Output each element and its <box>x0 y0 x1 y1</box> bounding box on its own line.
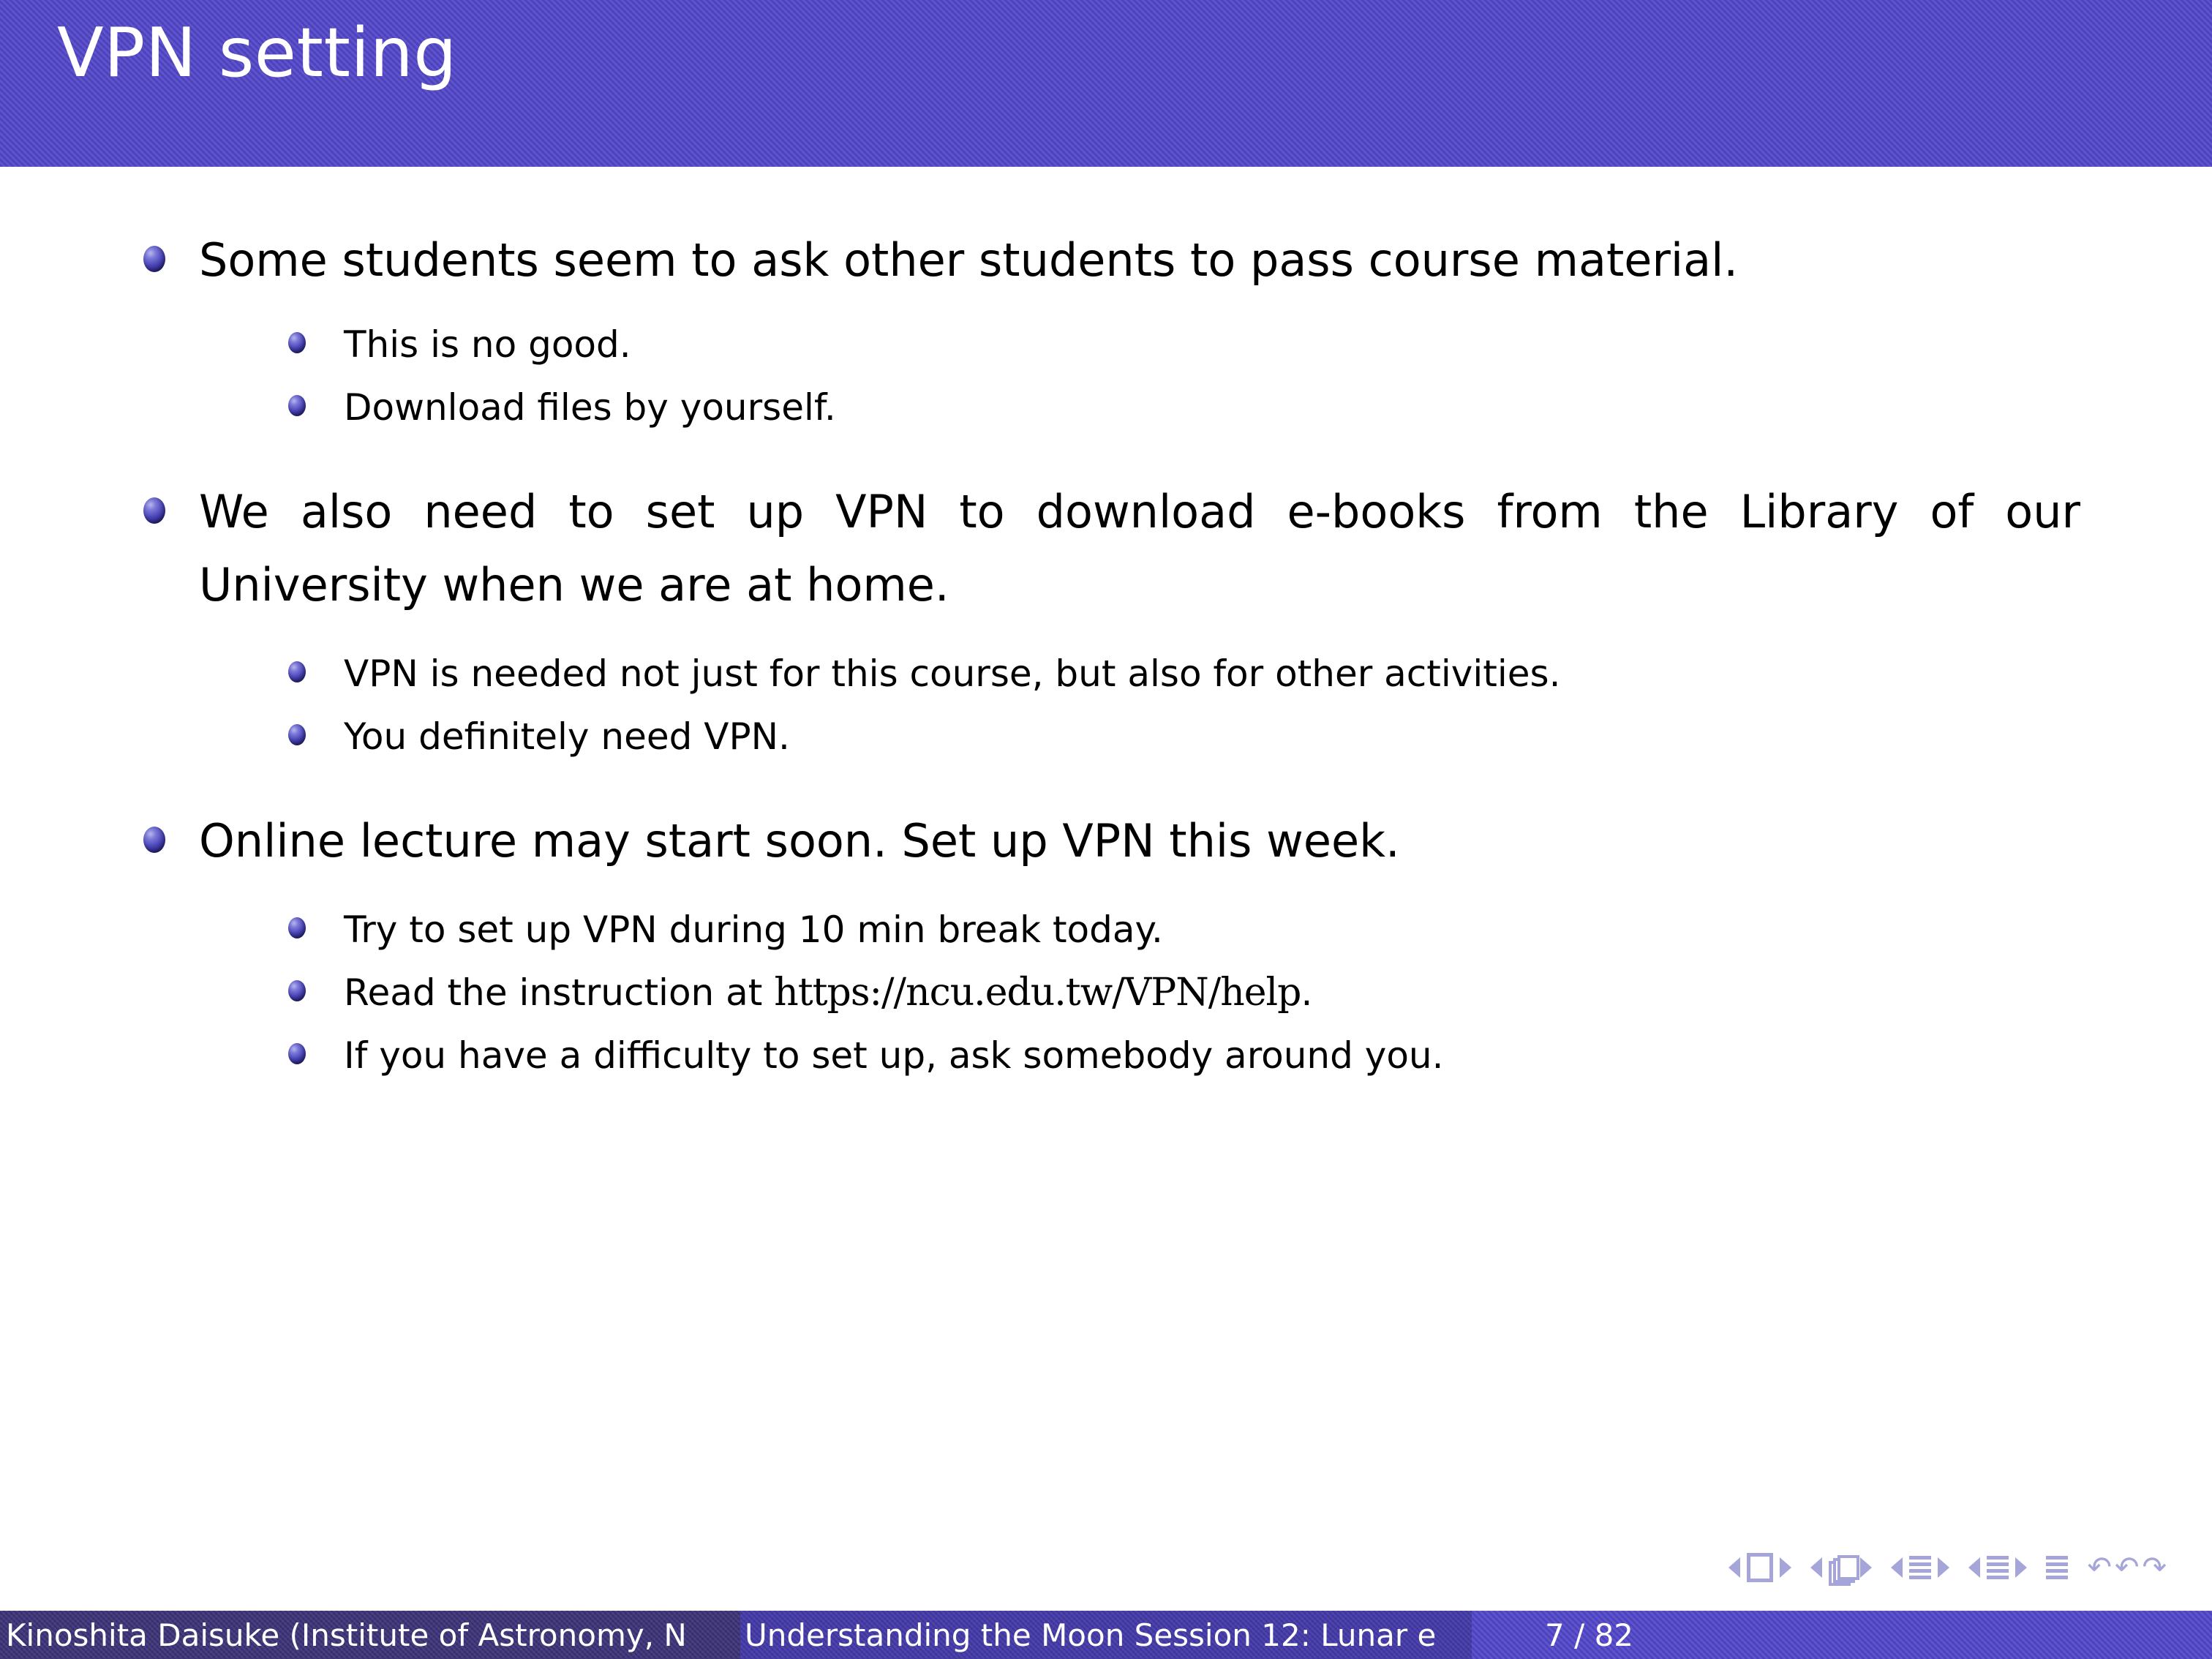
presentation-current-icon[interactable] <box>2046 1556 2068 1579</box>
bullet-ball-icon <box>288 980 306 1001</box>
slide-next-icon[interactable] <box>1780 1557 1791 1578</box>
nav-group-frame[interactable] <box>1810 1555 1872 1580</box>
slide-footer: Kinoshita Daisuke (Institute of Astronom… <box>0 1611 2212 1659</box>
instruction-text-after: . <box>1301 971 1312 1014</box>
list-item: Some students seem to ask other students… <box>0 224 2212 297</box>
slide-current-icon[interactable] <box>1747 1553 1773 1582</box>
bullet-ball-icon <box>288 661 306 682</box>
list-item: We also need to set up VPN to download e… <box>0 475 2212 622</box>
frame-prev-icon[interactable] <box>1810 1557 1822 1578</box>
list-item-label: If you have a difficulty to set up, ask … <box>344 1034 1444 1077</box>
list-item-label: Download files by yourself. <box>344 386 836 429</box>
list-item-label: We also need to set up VPN to download e… <box>199 475 2080 622</box>
list-item: Try to set up VPN during 10 min break to… <box>0 898 2212 961</box>
bullet-ball-icon <box>288 395 306 416</box>
nav-group-subsection[interactable] <box>1891 1556 1949 1579</box>
bullet-ball-icon <box>143 827 165 853</box>
list-item: VPN is needed not just for this course, … <box>0 642 2212 705</box>
list-item-label: Try to set up VPN during 10 min break to… <box>344 908 1163 951</box>
list-item-label: Read the instruction at https://ncu.edu.… <box>344 971 1312 1014</box>
bullet-ball-icon <box>288 917 306 938</box>
bullet-ball-icon <box>143 246 165 272</box>
list-item: Online lecture may start soon. Set up VP… <box>0 805 2212 878</box>
list-item: You definitely need VPN. <box>0 705 2212 768</box>
back-arrow-icon[interactable]: ↶ <box>2087 1553 2112 1582</box>
instruction-text-before: Read the instruction at <box>344 971 774 1014</box>
bullet-ball-icon <box>288 332 306 353</box>
subsection-prev-icon[interactable] <box>1891 1557 1903 1578</box>
forward-arrow-icon[interactable]: ↷ <box>2142 1553 2167 1582</box>
vpn-help-url: https://ncu.edu.tw/VPN/help <box>774 971 1301 1015</box>
footer-page-number: 7 / 82 <box>1472 1611 2212 1659</box>
subsection-next-icon[interactable] <box>1938 1557 1949 1578</box>
list-item: This is no good. <box>0 313 2212 376</box>
section-prev-icon[interactable] <box>1968 1557 1980 1578</box>
list-item-label: Online lecture may start soon. Set up VP… <box>199 805 2175 878</box>
slide-body: Some students seem to ask other students… <box>0 167 2212 1527</box>
nav-group-history[interactable]: ↶ ↶ ↷ <box>2087 1553 2167 1582</box>
list-item-label: This is no good. <box>344 323 631 366</box>
list-item-label: VPN is needed not just for this course, … <box>344 652 1560 695</box>
bullet-ball-icon <box>143 497 165 524</box>
footer-title: Understanding the Moon Session 12: Lunar… <box>740 1611 1472 1659</box>
nav-group-presentation[interactable] <box>2046 1556 2068 1579</box>
nav-group-section[interactable] <box>1968 1556 2027 1579</box>
slide-title-bar: VPN setting <box>0 0 2212 167</box>
bullet-ball-icon <box>288 724 306 745</box>
list-item-label: Some students seem to ask other students… <box>199 224 2175 297</box>
list-item: Read the instruction at https://ncu.edu.… <box>0 961 2212 1024</box>
section-next-icon[interactable] <box>2015 1557 2027 1578</box>
list-item: Download files by yourself. <box>0 376 2212 439</box>
list-item-label: You definitely need VPN. <box>344 715 790 758</box>
page-title: VPN setting <box>57 19 457 87</box>
frame-next-icon[interactable] <box>1860 1557 1872 1578</box>
slide-prev-icon[interactable] <box>1728 1557 1740 1578</box>
search-arrow-icon[interactable]: ↶ <box>2115 1553 2140 1582</box>
list-item: If you have a difficulty to set up, ask … <box>0 1024 2212 1087</box>
subsection-current-icon[interactable] <box>1909 1556 1931 1579</box>
nav-group-slide[interactable] <box>1728 1553 1791 1582</box>
section-current-icon[interactable] <box>1987 1556 2009 1579</box>
beamer-navigation-symbols[interactable]: ↶ ↶ ↷ <box>1728 1542 2167 1593</box>
frame-current-icon[interactable] <box>1829 1555 1854 1580</box>
footer-author: Kinoshita Daisuke (Institute of Astronom… <box>0 1611 740 1659</box>
bullet-ball-icon <box>288 1043 306 1064</box>
